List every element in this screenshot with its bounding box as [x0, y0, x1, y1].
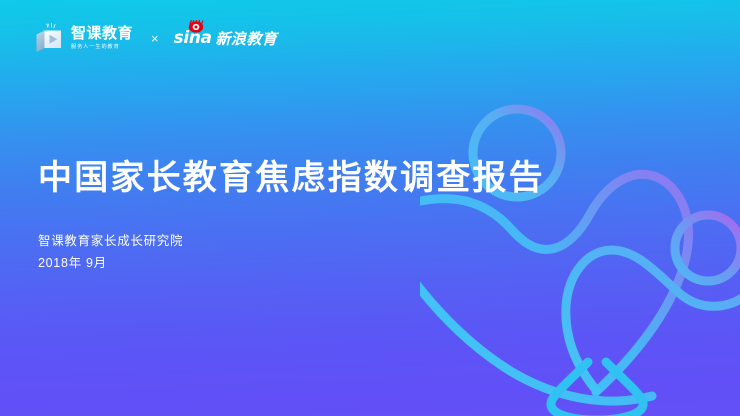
logo-separator-x: ×	[151, 31, 159, 46]
base-loop	[551, 362, 643, 416]
zhike-logo[interactable]: 智课教育 服务人一生的教育	[34, 22, 133, 54]
subtitle-block: 智课教育家长成长研究院 2018年 9月	[38, 231, 183, 274]
child-head-circle	[675, 215, 740, 281]
child-body-curve	[566, 250, 740, 390]
adult-body-curve	[420, 174, 689, 392]
sina-logo[interactable]: sina 新浪教育	[174, 28, 278, 49]
subtitle-organization: 智课教育家长成长研究院	[38, 231, 183, 253]
title-slide: 智课教育 服务人一生的教育 × sina 新浪教育 中国家长教育焦虑指数调查报告…	[0, 0, 740, 416]
play-cube-icon	[34, 22, 64, 54]
page-title: 中国家长教育焦虑指数调查报告	[38, 157, 545, 200]
zhike-name: 智课教育	[71, 26, 133, 41]
logo-bar: 智课教育 服务人一生的教育 × sina 新浪教育	[34, 20, 277, 56]
parent-and-child-line-art	[420, 96, 740, 416]
sina-weibo-eye-icon	[188, 20, 204, 33]
subtitle-date: 2018年 9月	[38, 253, 183, 275]
adult-sweep-curve	[420, 222, 652, 401]
zhike-tagline: 服务人一生的教育	[71, 45, 133, 50]
sina-education-name: 新浪教育	[216, 28, 278, 49]
